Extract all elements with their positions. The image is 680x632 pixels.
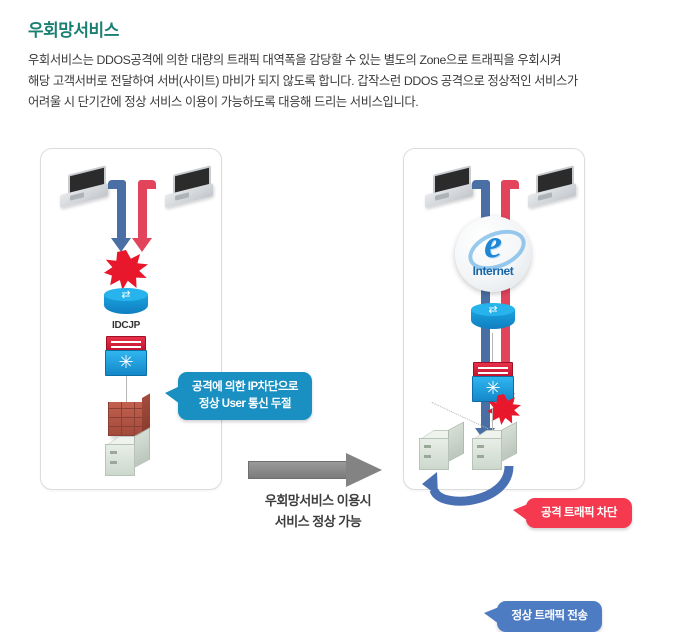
right-panel-laptop-right [526,170,580,206]
center-transition-arrow [248,453,388,487]
center-caption-line-1: 우회망서비스 이용시 [228,490,408,511]
left-panel-server [105,436,151,478]
intro-paragraph: 우회서비스는 DDOS공격에 의한 대량의 트래픽 대역폭을 감당할 수 있는 … [28,50,648,113]
right-panel-laptop-left [423,170,477,206]
intro-line-3: 어려울 시 단기간에 정상 서비스 이용이 가능하도록 대응해 드리는 서비스입… [28,92,648,113]
right-panel-router: ⇄ [471,303,515,333]
router-arrows-icon: ⇄ [104,289,148,301]
callout-line-1: 공격에 의한 IP차단으로 [178,379,312,396]
network-diagram: ⇄ IDCJP ✳ 공격에 의한 IP차단으로 정상 User 통신 두절 우회… [0,140,680,525]
intro-line-1: 우회서비스는 DDOS공격에 의한 대량의 트래픽 대역폭을 감당할 수 있는 … [28,50,648,71]
callout-line-2: 정상 User 통신 두절 [178,396,312,413]
appliance-switch-icon: ✳ [472,376,514,402]
left-panel-laptop-right [163,170,217,206]
router-arrows-icon: ⇄ [471,304,515,316]
intro-line-2: 해당 고객서버로 전달하여 서버(사이트) 마비가 되지 않도록 합니다. 갑작… [28,71,648,92]
firewall-brick-icon [108,402,142,436]
left-panel-security-appliance: ✳ [105,336,147,376]
normal-traffic-loop-arrow [412,460,522,516]
center-caption-line-2: 서비스 정상 가능 [228,511,408,532]
internet-e-glyph: e [455,224,531,264]
router-label: IDCJP [96,320,156,331]
link-line [492,333,493,363]
callout-attack-blocks-users: 공격에 의한 IP차단으로 정상 User 통신 두절 [178,372,312,420]
appliance-top-unit-icon [106,336,146,351]
server-front-icon [105,444,135,476]
appliance-switch-icon: ✳ [105,350,147,376]
right-panel-security-appliance: ✳ [472,362,514,402]
internet-globe-icon: e Internet [455,216,531,292]
page-title: 우회망서비스 [28,16,119,41]
center-caption: 우회망서비스 이용시 서비스 정상 가능 [228,490,408,532]
internet-label: Internet [455,264,531,278]
left-panel-laptop-left [58,170,112,206]
left-panel-router-idcjp: ⇄ [104,288,148,318]
callout-normal-text: 정상 트래픽 전송 [512,610,588,622]
callout-normal-traffic-forwarded: 정상 트래픽 전송 [497,601,602,632]
callout-block-text: 공격 트래픽 차단 [541,507,617,519]
callout-attack-traffic-blocked: 공격 트래픽 차단 [526,498,632,528]
appliance-top-unit-icon [473,362,513,377]
